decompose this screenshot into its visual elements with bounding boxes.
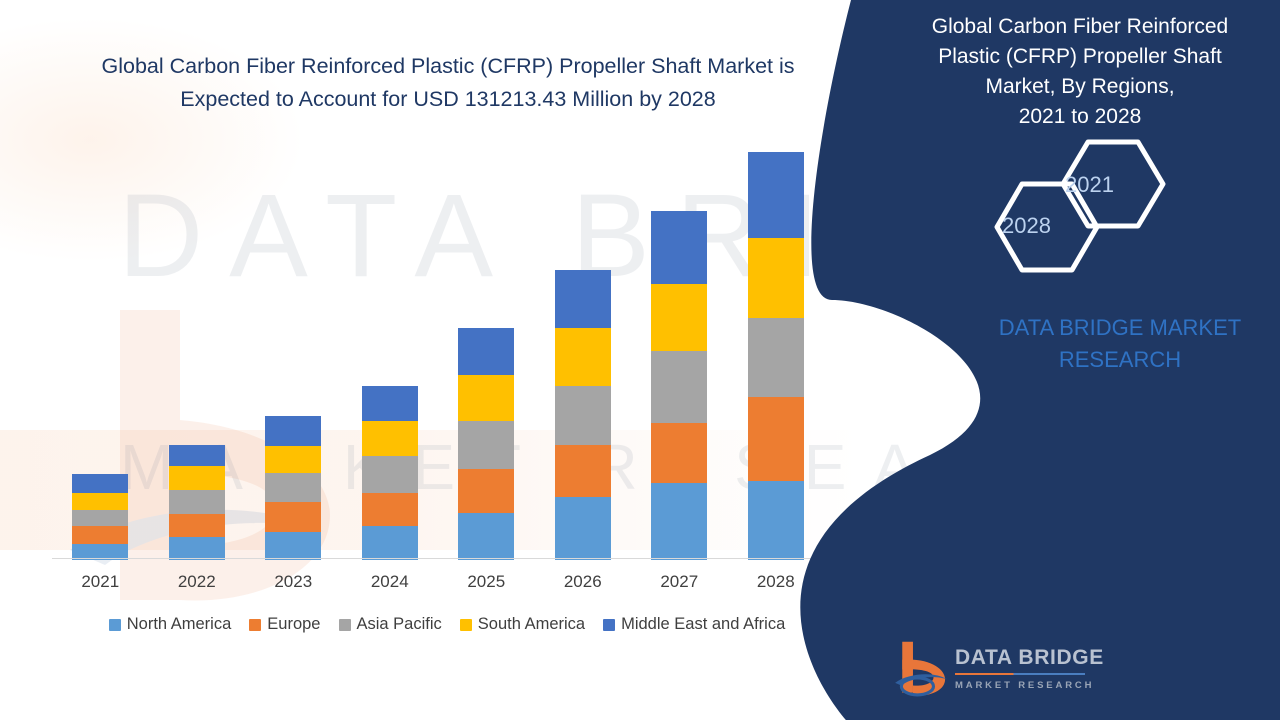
bar-segment-2025-europe [458, 469, 514, 514]
bar-segment-2022-north-america [169, 537, 225, 560]
legend-label: Middle East and Africa [621, 615, 785, 634]
bar-2023 [265, 416, 321, 560]
bar-segment-2024-south-america [362, 421, 418, 456]
bar-2021 [72, 474, 128, 560]
bar-segment-2022-europe [169, 514, 225, 537]
logo-divider [955, 673, 1085, 675]
x-axis-label-2022: 2022 [152, 572, 242, 592]
bar-segment-2026-south-america [555, 328, 611, 386]
bar-segment-2024-middle-east-and-africa [362, 386, 418, 421]
chart-legend: North AmericaEuropeAsia PacificSouth Ame… [52, 615, 842, 634]
bar-segment-2022-middle-east-and-africa [169, 445, 225, 467]
bar-segment-2021-asia-pacific [72, 510, 128, 526]
legend-item-asia-pacific[interactable]: Asia Pacific [339, 615, 442, 634]
x-axis-label-2023: 2023 [248, 572, 338, 592]
brand-name-line-1: DATA BRIDGE MARKET [960, 312, 1280, 344]
x-axis-line [52, 558, 822, 559]
bar-segment-2025-middle-east-and-africa [458, 328, 514, 375]
legend-swatch-icon [460, 619, 472, 631]
x-axis-label-2026: 2026 [538, 572, 628, 592]
panel-title-line-1: Global Carbon Fiber Reinforced [895, 12, 1265, 42]
bar-segment-2023-south-america [265, 446, 321, 473]
bar-segment-2027-asia-pacific [651, 351, 707, 423]
bar-segment-2026-middle-east-and-africa [555, 270, 611, 329]
legend-item-north-america[interactable]: North America [109, 615, 232, 634]
bar-segment-2021-middle-east-and-africa [72, 474, 128, 492]
bar-segment-2022-asia-pacific [169, 490, 225, 514]
panel-title-line-2: Plastic (CFRP) Propeller Shaft [895, 42, 1265, 72]
bar-segment-2028-europe [748, 397, 804, 481]
bar-segment-2026-asia-pacific [555, 386, 611, 445]
hexagon-2028-label: 2028 [1002, 213, 1051, 239]
bar-segment-2027-middle-east-and-africa [651, 211, 707, 284]
bar-2027 [651, 211, 707, 560]
page-title: Global Carbon Fiber Reinforced Plastic (… [58, 50, 838, 116]
bar-segment-2028-south-america [748, 238, 804, 319]
bar-segment-2021-europe [72, 526, 128, 543]
bar-segment-2023-north-america [265, 532, 321, 560]
panel-title: Global Carbon Fiber Reinforced Plastic (… [895, 12, 1265, 132]
bar-segment-2028-middle-east-and-africa [748, 152, 804, 238]
logo-name-top: DATA BRIDGE [955, 646, 1104, 670]
brand-name: DATA BRIDGE MARKET RESEARCH [960, 312, 1280, 376]
x-axis-labels: 20212022202320242025202620272028 [52, 572, 824, 602]
legend-swatch-icon [339, 619, 351, 631]
x-axis-label-2027: 2027 [634, 572, 724, 592]
hexagon-2021-label: 2021 [1065, 172, 1114, 198]
bar-segment-2024-asia-pacific [362, 456, 418, 493]
bar-2028 [748, 152, 804, 560]
bar-segment-2023-europe [265, 502, 321, 531]
x-axis-label-2021: 2021 [55, 572, 145, 592]
bar-segment-2025-south-america [458, 375, 514, 421]
legend-label: South America [478, 615, 585, 634]
infographic-canvas: DATA BRIDGE MARKET RESEARCH Global Carbo… [0, 0, 1280, 720]
bar-segment-2028-asia-pacific [748, 318, 804, 396]
bar-segment-2024-north-america [362, 526, 418, 560]
legend-swatch-icon [603, 619, 615, 631]
stacked-bar-chart [52, 150, 824, 560]
bar-segment-2028-north-america [748, 481, 804, 560]
panel-title-line-3: Market, By Regions, [895, 72, 1265, 102]
bar-2026 [555, 270, 611, 560]
bar-segment-2027-europe [651, 423, 707, 483]
legend-label: Europe [267, 615, 320, 634]
x-axis-label-2025: 2025 [441, 572, 531, 592]
legend-item-middle-east-and-africa[interactable]: Middle East and Africa [603, 615, 785, 634]
hexagon-badges: 2021 2028 [980, 138, 1180, 273]
brand-name-line-2: RESEARCH [960, 344, 1280, 376]
bar-segment-2027-south-america [651, 284, 707, 351]
company-logo: DATA BRIDGE MARKET RESEARCH [893, 640, 1108, 702]
bar-2025 [458, 328, 514, 560]
bar-segment-2025-asia-pacific [458, 421, 514, 469]
panel-title-line-4: 2021 to 2028 [895, 102, 1265, 132]
logo-wordmark: DATA BRIDGE MARKET RESEARCH [955, 646, 1104, 691]
bar-2024 [362, 386, 418, 560]
bar-segment-2026-north-america [555, 497, 611, 560]
logo-mark-icon [893, 640, 949, 698]
x-axis-label-2028: 2028 [731, 572, 821, 592]
bar-segment-2025-north-america [458, 513, 514, 560]
legend-item-south-america[interactable]: South America [460, 615, 585, 634]
legend-item-europe[interactable]: Europe [249, 615, 320, 634]
bar-segment-2022-south-america [169, 466, 225, 490]
legend-label: North America [127, 615, 232, 634]
bar-segment-2023-asia-pacific [265, 473, 321, 502]
legend-label: Asia Pacific [357, 615, 442, 634]
legend-swatch-icon [109, 619, 121, 631]
x-axis-label-2024: 2024 [345, 572, 435, 592]
legend-swatch-icon [249, 619, 261, 631]
bar-segment-2021-south-america [72, 493, 128, 510]
bar-segment-2023-middle-east-and-africa [265, 416, 321, 445]
bar-segment-2026-europe [555, 445, 611, 497]
logo-name-bottom: MARKET RESEARCH [955, 680, 1104, 691]
bar-segment-2024-europe [362, 493, 418, 527]
bar-2022 [169, 445, 225, 560]
bar-segment-2027-north-america [651, 483, 707, 560]
